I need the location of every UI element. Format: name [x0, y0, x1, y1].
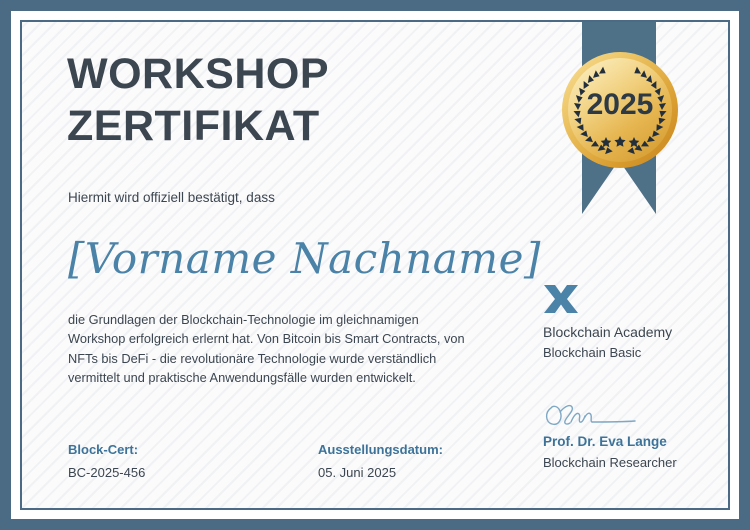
signature-block: Prof. Dr. Eva Lange Blockchain Researche…	[543, 400, 730, 470]
intro-text: Hiermit wird offiziell bestätigt, dass	[68, 190, 275, 205]
title-line-1: WORKSHOP	[67, 48, 487, 100]
academy-name: Blockchain Academy	[543, 324, 730, 340]
award-seal-icon: 2025	[560, 50, 680, 170]
signer-name: Prof. Dr. Eva Lange	[543, 434, 730, 449]
block-cert-label: Block-Cert:	[68, 442, 145, 457]
blockchain-x-logo-icon	[543, 284, 579, 314]
inner-border: WORKSHOP ZERTIFIKAT Hiermit wird offizie…	[20, 20, 730, 510]
page-title: WORKSHOP ZERTIFIKAT	[67, 48, 487, 153]
issue-date-field: Ausstellungsdatum: 05. Juni 2025	[318, 442, 443, 480]
issue-date-value: 05. Juni 2025	[318, 465, 443, 480]
seal-year-text: 2025	[587, 88, 654, 121]
block-cert-value: BC-2025-456	[68, 465, 145, 480]
handwritten-signature-icon	[543, 400, 663, 432]
recipient-name-field[interactable]: [Vorname Nachname]	[68, 234, 541, 283]
block-cert-field: Block-Cert: BC-2025-456	[68, 442, 145, 480]
certificate-content: WORKSHOP ZERTIFIKAT Hiermit wird offizie…	[22, 22, 728, 508]
signer-role: Blockchain Researcher	[543, 455, 730, 470]
title-line-2: ZERTIFIKAT	[67, 100, 487, 152]
certificate-document: WORKSHOP ZERTIFIKAT Hiermit wird offizie…	[0, 0, 750, 530]
body-paragraph: die Grundlagen der Blockchain-Technologi…	[68, 310, 468, 388]
issue-date-label: Ausstellungsdatum:	[318, 442, 443, 457]
academy-course: Blockchain Basic	[543, 345, 730, 360]
academy-block: Blockchain Academy Blockchain Basic	[543, 284, 730, 360]
